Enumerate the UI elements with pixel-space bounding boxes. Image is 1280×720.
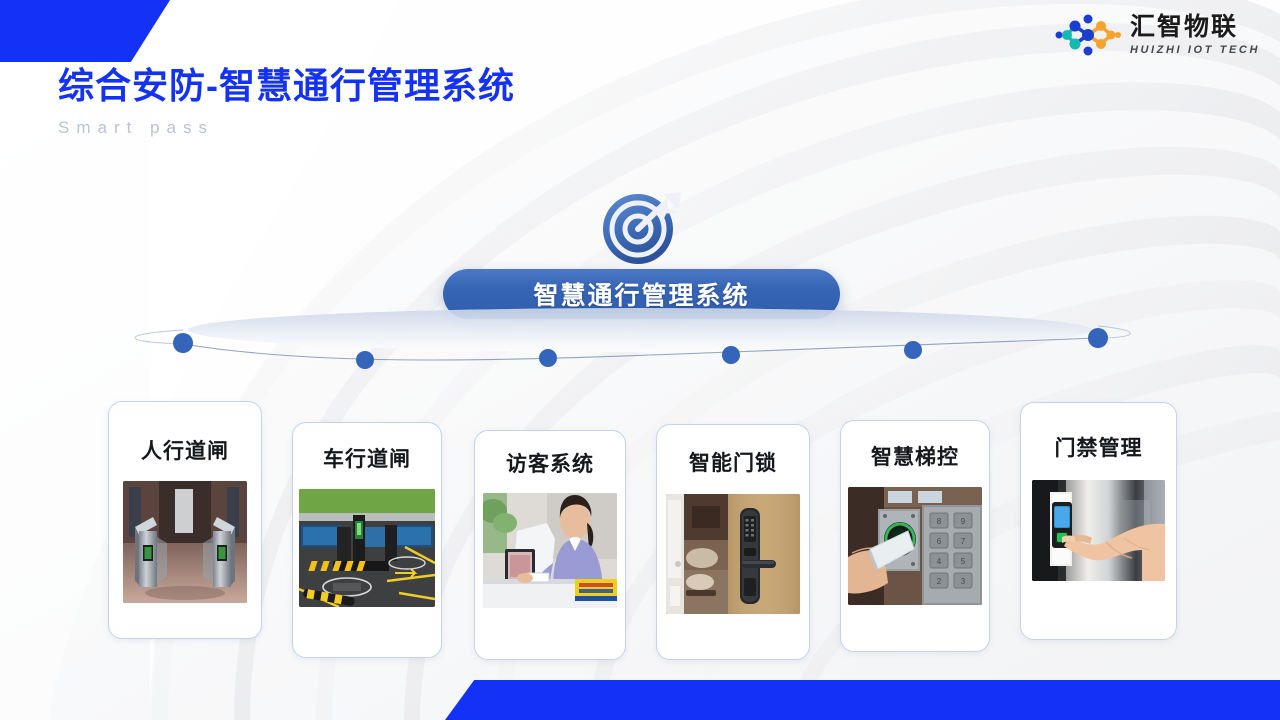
card-visitor-system[interactable]: 访客系统 (474, 430, 626, 660)
brand-name-cn: 汇智物联 (1130, 15, 1260, 40)
brand-name-en: HUIZHI IOT TECH (1130, 45, 1260, 56)
page-title: 综合安防-智慧通行管理系统 (58, 66, 515, 106)
svg-text:7: 7 (961, 537, 966, 546)
svg-text:5: 5 (961, 557, 966, 566)
svg-text:9: 9 (961, 517, 966, 526)
page-subtitle: Smart pass (58, 118, 515, 138)
brand-logo-text: 汇智物联 HUIZHI IOT TECH (1130, 15, 1260, 56)
brand-logo: 汇智物联 HUIZHI IOT TECH (1055, 14, 1260, 56)
elevator-card-reader-photo: 89 67 45 23 (848, 487, 982, 605)
pedestrian-turnstile-photo (123, 481, 247, 603)
visitor-reception-photo (483, 493, 617, 608)
card-smart-door-lock[interactable]: 智能门锁 (656, 424, 810, 660)
card-access-control[interactable]: 门禁管理 (1020, 402, 1177, 640)
card-title: 车行道闸 (323, 443, 411, 473)
slide-canvas: 综合安防-智慧通行管理系统 Smart pass (0, 0, 1280, 720)
card-title: 人行道闸 (141, 435, 229, 465)
access-control-fingerprint-photo (1032, 480, 1165, 581)
smart-door-lock-photo (666, 494, 800, 614)
svg-text:3: 3 (961, 577, 966, 586)
page-header: 综合安防-智慧通行管理系统 Smart pass (58, 66, 515, 138)
svg-text:8: 8 (937, 517, 942, 526)
svg-text:6: 6 (937, 537, 942, 546)
card-vehicle-gate[interactable]: 车行道闸 (292, 422, 442, 658)
target-arrow-icon (597, 186, 685, 268)
corner-accent-bottom-right (445, 680, 1280, 720)
vehicle-barrier-gate-photo (299, 489, 435, 607)
svg-text:2: 2 (937, 577, 942, 586)
card-title: 智能门锁 (689, 447, 777, 477)
card-title: 访客系统 (506, 448, 594, 478)
card-pedestrian-gate[interactable]: 人行道闸 (108, 401, 262, 639)
connector-ellipse-line (0, 300, 1280, 400)
card-title: 门禁管理 (1055, 432, 1143, 462)
card-title: 智慧梯控 (871, 441, 959, 471)
svg-text:4: 4 (937, 557, 942, 566)
molecule-network-icon (1055, 14, 1121, 56)
card-elevator-control[interactable]: 智慧梯控 (840, 420, 990, 652)
